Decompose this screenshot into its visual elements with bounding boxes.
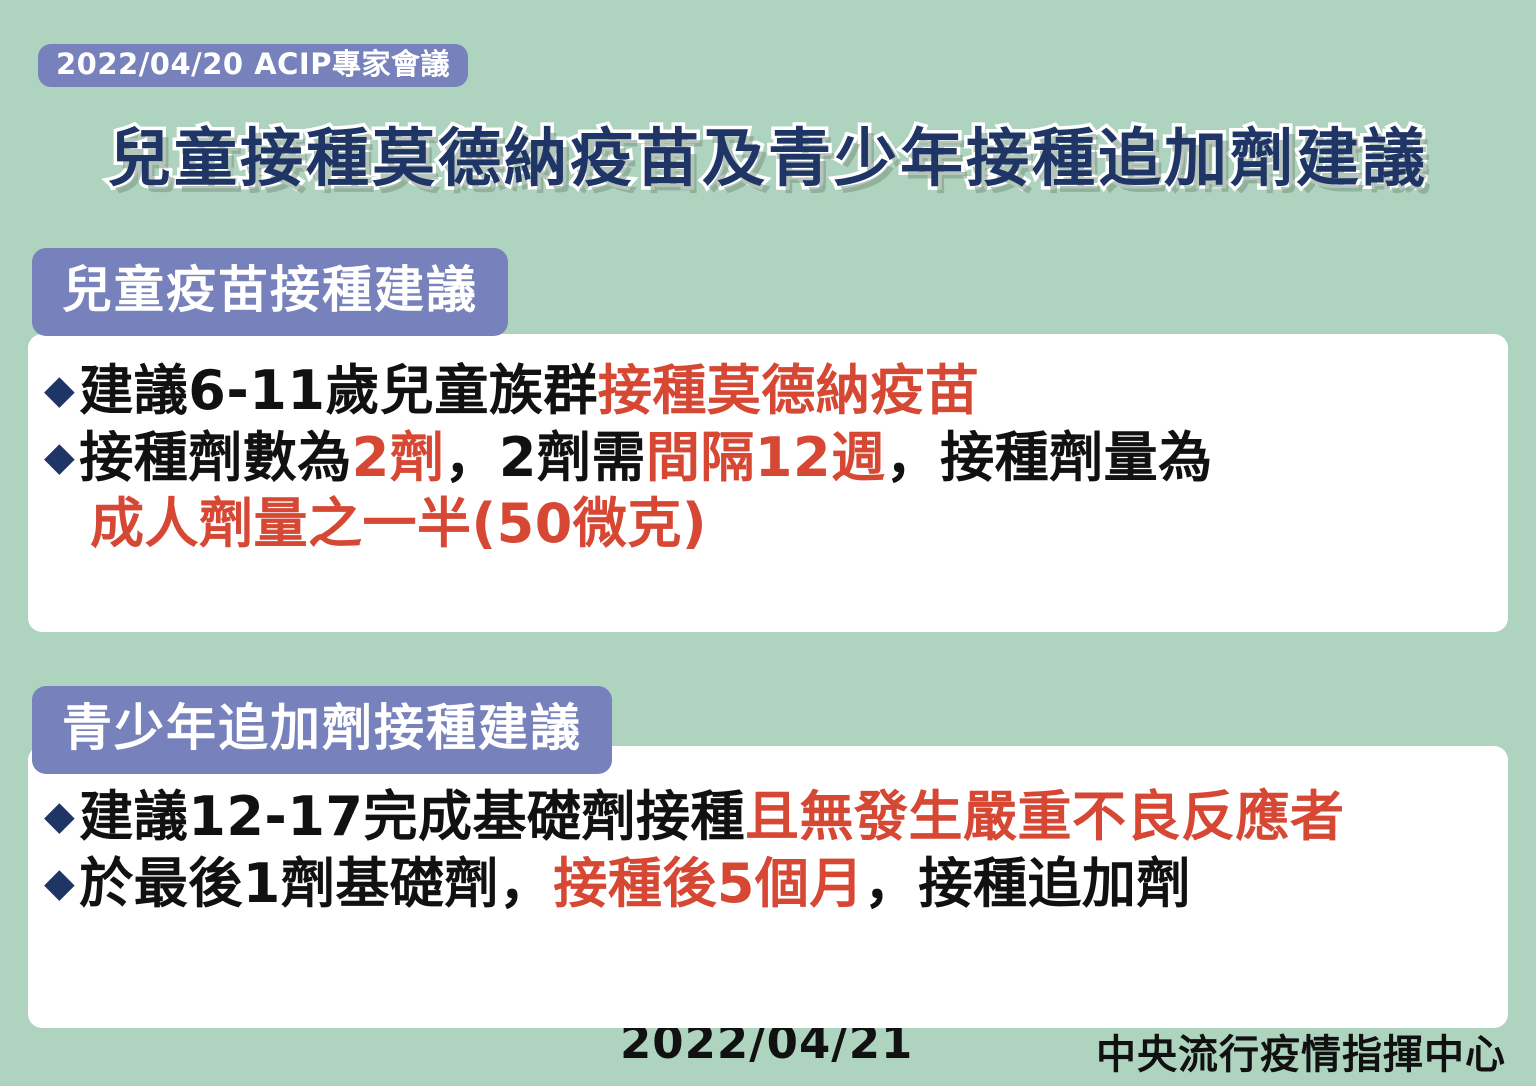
- bullet-text-segment: ，2劑需: [444, 426, 646, 489]
- bullet-text-segment-highlight: 成人劑量之一半(50微克): [44, 493, 707, 556]
- diamond-bullet-icon: ◆: [44, 367, 75, 413]
- bullet-list-teen: ◆建議12-17完成基礎劑接種且無發生嚴重不良反應者 ◆於最後1劑基礎劑，接種後…: [44, 786, 1506, 919]
- bullet-text-segment: 接種劑數為: [79, 426, 352, 489]
- section-badge-children: 兒童疫苗接種建議: [32, 248, 508, 336]
- bullet-text-segment: 建議6-11歲兒童族群: [79, 359, 598, 422]
- list-item: ◆於最後1劑基礎劑，接種後5個月，接種追加劑: [44, 853, 1506, 916]
- bullet-list-children: ◆建議6-11歲兒童族群接種莫德納疫苗 ◆接種劑數為2劑，2劑需間隔12週，接種…: [44, 360, 1506, 560]
- bullet-text-segment: 於最後1劑基礎劑，: [79, 852, 553, 915]
- list-item: ◆建議12-17完成基礎劑接種且無發生嚴重不良反應者: [44, 786, 1506, 849]
- bullet-text-segment-highlight: 接種莫德納疫苗: [598, 359, 980, 422]
- list-item: ◆建議6-11歲兒童族群接種莫德納疫苗: [44, 360, 1506, 423]
- bullet-text-segment-highlight: 接種後5個月: [553, 852, 864, 915]
- meeting-date-badge: 2022/04/20 ACIP專家會議: [38, 44, 468, 87]
- bullet-text-segment-highlight: 且無發生嚴重不良反應者: [745, 785, 1345, 848]
- bullet-text-segment: ，接種劑量為: [886, 426, 1213, 489]
- infographic-poster: 2022/04/20 ACIP專家會議 兒童接種莫德納疫苗及青少年接種追加劑建議…: [0, 0, 1536, 1086]
- bullet-text-segment-highlight: 間隔12週: [646, 426, 886, 489]
- bullet-text-segment-highlight: 2劑: [352, 426, 445, 489]
- bullet-text-segment: 建議12-17完成基礎劑接種: [79, 785, 745, 848]
- section-badge-teen: 青少年追加劑接種建議: [32, 686, 612, 774]
- list-item: ◆接種劑數為2劑，2劑需間隔12週，接種劑量為: [44, 427, 1506, 490]
- footer-organization: 中央流行疫情指揮中心: [1096, 1022, 1506, 1080]
- list-item-continuation: 成人劑量之一半(50微克): [44, 493, 1506, 556]
- page-title: 兒童接種莫德納疫苗及青少年接種追加劑建議: [0, 108, 1536, 199]
- diamond-bullet-icon: ◆: [44, 434, 75, 480]
- bullet-text-segment: ，接種追加劑: [864, 852, 1191, 915]
- diamond-bullet-icon: ◆: [44, 860, 75, 906]
- diamond-bullet-icon: ◆: [44, 793, 75, 839]
